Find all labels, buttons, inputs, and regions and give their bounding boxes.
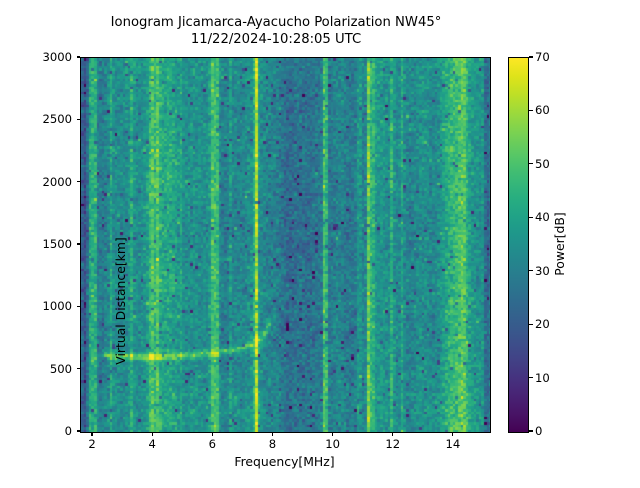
colorbar-tick-label: 20 [535,317,550,331]
figure-title: Ionogram Jicamarca-Ayacucho Polarization… [0,14,552,31]
colorbar-tick [529,56,533,57]
colorbar-label: Power[dB] [552,57,568,431]
x-axis-tick [392,432,393,436]
x-axis-label: Frequency[MHz] [80,454,489,469]
y-axis-tick-label: 1500 [4,237,72,251]
figure-subtitle: 11/22/2024-10:28:05 UTC [0,31,552,48]
colorbar-tick [529,430,533,431]
x-axis-tick-label: 14 [433,437,473,451]
y-axis-tick-label: 2000 [4,175,72,189]
x-axis-tick-label: 2 [72,437,112,451]
y-axis-tick [77,119,81,120]
y-axis-tick-label: 500 [4,362,72,376]
x-axis-tick [452,432,453,436]
y-axis-tick-label: 0 [4,424,72,438]
y-axis-tick-label: 1000 [4,299,72,313]
x-axis-tick [332,432,333,436]
y-axis-tick [77,306,81,307]
y-axis-tick-label: 3000 [4,50,72,64]
colorbar-label-wrapper: Power[dB] [552,57,568,431]
figure-title-block: Ionogram Jicamarca-Ayacucho Polarization… [0,14,552,48]
y-axis-tick [77,181,81,182]
x-axis-tick-label: 10 [313,437,353,451]
y-axis-tick [77,430,81,431]
y-axis-tick [77,56,81,57]
colorbar-tick [529,217,533,218]
x-axis-tick-label: 4 [132,437,172,451]
x-axis-tick [152,432,153,436]
colorbar-gradient [509,58,528,432]
ionogram-figure: Ionogram Jicamarca-Ayacucho Polarization… [0,0,640,480]
ionogram-plot-area [80,57,491,433]
x-axis-tick-label: 12 [373,437,413,451]
colorbar-tick [529,270,533,271]
colorbar-tick-label: 40 [535,210,550,224]
colorbar-tick-label: 10 [535,371,550,385]
colorbar-tick [529,163,533,164]
colorbar [508,57,529,433]
x-axis-tick [212,432,213,436]
x-axis-tick [91,432,92,436]
colorbar-tick [529,377,533,378]
y-axis-tick [77,243,81,244]
colorbar-tick-label: 60 [535,103,550,117]
colorbar-tick-label: 0 [535,424,542,438]
colorbar-tick-label: 50 [535,157,550,171]
y-axis-tick [77,368,81,369]
colorbar-tick [529,324,533,325]
colorbar-tick-label: 70 [535,50,550,64]
x-axis-tick [272,432,273,436]
colorbar-tick [529,110,533,111]
y-axis-label: Virtual Distance[km] [113,114,129,488]
ionogram-heatmap [81,58,490,432]
x-axis-tick-label: 8 [252,437,292,451]
colorbar-tick-label: 30 [535,264,550,278]
y-axis-tick-label: 2500 [4,112,72,126]
x-axis-tick-label: 6 [192,437,232,451]
